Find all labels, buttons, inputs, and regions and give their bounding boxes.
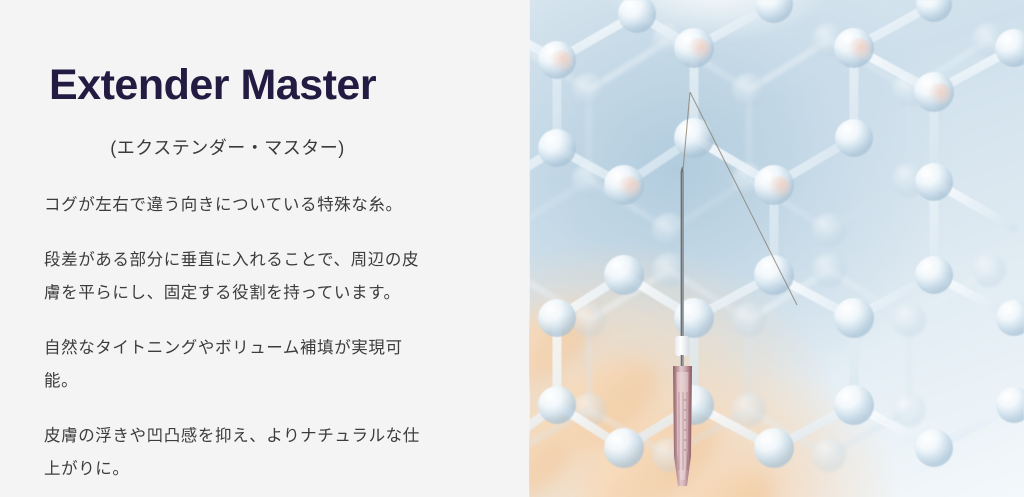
cog-thread [683,92,797,305]
description-paragraph-1: コグが左右で違う向きについている特殊な糸。 [44,188,426,221]
product-image-panel [529,0,1024,497]
product-description: コグが左右で違う向きについている特殊な糸。 段差がある部分に垂直に入れることで、… [44,188,426,485]
description-paragraph-3: 自然なタイトニングやボリューム補填が実現可能。 [44,331,426,397]
product-feature-slide: Extender Master (エクステンダー・マスター) コグが左右で違う向… [0,0,1024,497]
needle-cannula [681,172,684,342]
product-subtitle: (エクステンダー・マスター) [0,134,455,160]
needle-hub [673,366,692,486]
description-paragraph-4: 皮膚の浮きや凹凸感を抑え、よりナチュラルな仕上がりに。 [44,419,426,485]
needle-collar [675,336,689,356]
page-title: Extender Master [49,62,376,109]
text-panel: Extender Master (エクステンダー・マスター) コグが左右で違う向… [0,0,529,497]
needle-and-thread [529,0,1024,497]
description-paragraph-2: 段差がある部分に垂直に入れることで、周辺の皮膚を平らにし、固定する役割を持ってい… [44,243,426,309]
